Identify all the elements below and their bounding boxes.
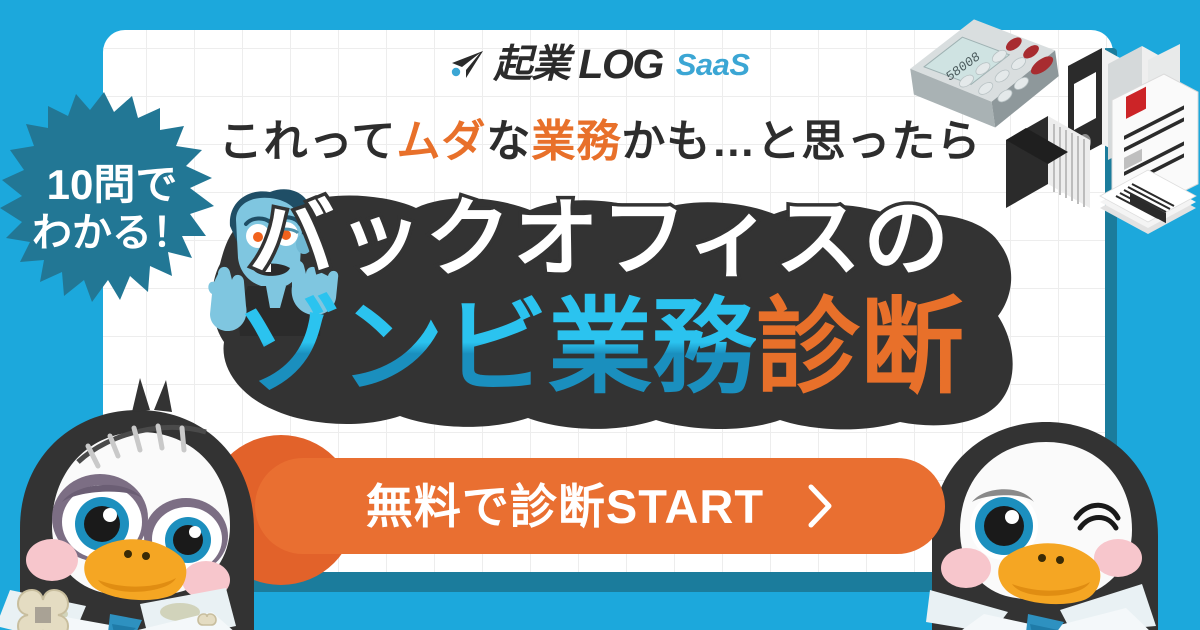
subtitle-highlight2: 業務 — [531, 117, 621, 166]
site-logo[interactable]: 起業 LOG SaaS — [0, 44, 1200, 85]
logo-text-jp: 起業 — [493, 45, 569, 84]
start-diagnosis-button[interactable]: 無料で診断START — [255, 458, 945, 554]
zombie-penguin-left — [0, 358, 300, 630]
subtitle-highlight1: ムダ — [396, 117, 486, 166]
subtitle-part2: な — [486, 117, 531, 166]
healthy-penguin-right — [900, 378, 1200, 630]
subtitle-part3: かも…と思ったら — [621, 117, 981, 166]
subtitle-part1: これって — [219, 117, 397, 166]
question-count-badge: 10問で わかる！ — [0, 86, 232, 331]
logo-text-en: LOG — [578, 44, 662, 85]
chevron-right-icon — [806, 482, 834, 530]
paper-plane-icon — [450, 50, 484, 80]
logo-text-saas: SaaS — [676, 49, 750, 80]
ink-splat-shape — [0, 86, 232, 331]
cta-label: 無料で診断START — [366, 483, 764, 530]
poster-stage: 58008 — [0, 0, 1200, 630]
title-zombie-part: ゾンビ業務 — [236, 290, 756, 406]
